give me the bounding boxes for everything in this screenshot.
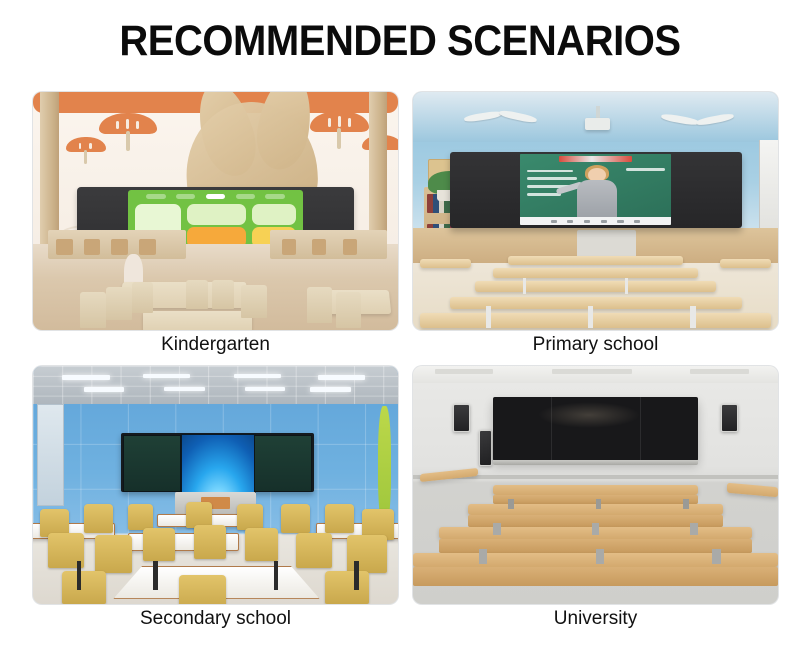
chair: [325, 504, 354, 533]
interactive-flat-panel[interactable]: [493, 397, 697, 461]
toolbar-icon[interactable]: [584, 220, 590, 223]
toolbar-icon[interactable]: [634, 220, 640, 223]
desk-row: [508, 256, 683, 264]
ceiling: [413, 366, 778, 383]
child-chair: [307, 287, 333, 323]
scenario-caption-kindergarten: Kindergarten: [33, 332, 398, 358]
basket: [84, 239, 101, 256]
desk-front: [413, 567, 778, 586]
ceiling-light: [234, 374, 281, 379]
seat-frame: [592, 523, 599, 535]
basket: [139, 239, 156, 256]
mushroom-stem: [126, 131, 130, 152]
desk-leg: [625, 278, 629, 295]
chair-leg: [153, 561, 157, 590]
scenario-caption-primary-school: Primary school: [413, 332, 778, 358]
ceiling: [33, 366, 398, 404]
chair-leg: [354, 561, 358, 590]
ceiling-light: [245, 387, 285, 392]
projector: [585, 118, 611, 130]
ceiling-light: [318, 375, 365, 380]
ceiling-slot: [552, 369, 632, 374]
ceiling-light: [84, 387, 124, 392]
wood-column-left: [40, 92, 58, 249]
seat-frame: [493, 523, 500, 535]
chair: [84, 504, 113, 533]
scenario-card-primary-school[interactable]: Primary school: [413, 92, 778, 358]
basket: [343, 239, 357, 256]
app-card-media[interactable]: [252, 204, 296, 225]
front-board-assembly[interactable]: [121, 433, 314, 493]
basket: [312, 239, 326, 256]
desk-leg: [588, 306, 593, 327]
ceiling-slot: [690, 369, 748, 374]
chalk-formula: [527, 193, 560, 196]
wall-speaker-left: [453, 404, 470, 432]
desk-row: [450, 297, 742, 309]
ceiling-tile-grid: [33, 366, 398, 404]
side-desk-right: [720, 259, 771, 269]
page-title: RECOMMENDED SCENARIOS: [28, 18, 772, 65]
desk-row: [493, 268, 697, 278]
mushroom-decal-3: [310, 111, 368, 144]
child-chair: [186, 280, 208, 309]
seat-frame: [690, 523, 697, 535]
scenario-card-secondary-school[interactable]: Secondary school: [33, 366, 398, 632]
display-wallpaper: [181, 434, 257, 493]
chair: [347, 535, 387, 573]
ceiling-light: [62, 375, 109, 380]
ceiling-slot: [435, 369, 493, 374]
storage-cubby-right: [270, 230, 387, 259]
ceiling-fan-right: [661, 116, 734, 123]
primary-school-photo: [413, 92, 778, 330]
mushroom-gill: [126, 119, 129, 130]
chair: [281, 504, 310, 533]
mushroom-gill: [328, 118, 331, 127]
nav-tab[interactable]: [236, 194, 255, 199]
mushroom-decal-2: [66, 137, 106, 161]
toolbar-icon[interactable]: [601, 220, 607, 223]
ceiling-fan-left: [464, 113, 537, 120]
chalkboard-left: [123, 435, 181, 492]
chair: [186, 502, 212, 528]
app-top-nav[interactable]: [128, 190, 303, 202]
child-table: [143, 311, 253, 330]
app-card-note[interactable]: [187, 204, 246, 225]
scenario-card-university[interactable]: University: [413, 366, 778, 632]
desk-leg: [523, 278, 527, 295]
seat-gap: [508, 499, 514, 509]
basket: [111, 239, 128, 256]
secondary-school-photo: [33, 366, 398, 604]
side-desk-left: [420, 259, 471, 269]
mushroom-gill: [348, 118, 351, 127]
primary-school-scene: [413, 92, 778, 330]
chair: [194, 525, 227, 558]
university-scene: [413, 366, 778, 604]
desk-row: [493, 485, 697, 495]
ceiling-light: [164, 387, 204, 392]
chair-leg: [77, 561, 81, 590]
university-photo: [413, 366, 778, 604]
chalkboard-right: [254, 435, 312, 492]
nav-tab[interactable]: [176, 194, 195, 199]
seat-gap: [683, 499, 689, 509]
mushroom-gill: [136, 121, 139, 130]
child-chair: [241, 285, 267, 318]
scenario-caption-secondary-school: Secondary school: [33, 606, 398, 632]
toolbar-icon[interactable]: [617, 220, 623, 223]
green-wall-accent: [378, 406, 391, 525]
video-toolbar[interactable]: [520, 217, 672, 226]
child-chair: [212, 280, 234, 309]
nav-tab[interactable]: [146, 194, 165, 199]
ceiling-light: [310, 387, 350, 392]
window: [37, 404, 65, 506]
chair-front: [179, 575, 226, 604]
desk-leg: [486, 306, 491, 327]
chair: [237, 504, 263, 530]
panel-segment-divider: [640, 397, 641, 461]
interactive-flat-panel[interactable]: [450, 152, 742, 228]
kindergarten-photo: [33, 92, 398, 330]
toolbar-icon[interactable]: [551, 220, 557, 223]
scenario-grid: Kindergarten: [33, 92, 768, 632]
seat-frame: [712, 549, 721, 563]
recommended-scenarios-page: RECOMMENDED SCENARIOS: [0, 0, 800, 648]
panel-glare: [538, 402, 640, 428]
storage-cubby-left: [48, 230, 187, 259]
kindergarten-scene: [33, 92, 398, 330]
mushroom-gill: [79, 143, 81, 149]
mushroom-stem: [84, 150, 87, 165]
desk-row: [420, 313, 770, 327]
seat-gap: [596, 499, 602, 509]
chair-front: [325, 571, 369, 604]
desk-leg: [690, 306, 695, 327]
basket: [282, 239, 296, 256]
chair-leg: [274, 561, 278, 590]
ceiling-light: [143, 374, 190, 379]
video-title-bar: [559, 156, 632, 162]
child-chair: [106, 287, 132, 320]
seat-frame: [479, 549, 488, 563]
mushroom-stem: [337, 128, 341, 149]
panel-tray: [493, 460, 697, 465]
mushroom-gill: [116, 121, 119, 130]
teacher-body: [577, 180, 616, 219]
scenario-card-kindergarten[interactable]: Kindergarten: [33, 92, 398, 358]
mushroom-decal-1: [99, 113, 157, 146]
chair-front: [62, 571, 106, 604]
scenario-caption-university: University: [413, 606, 778, 632]
chair: [245, 528, 278, 561]
secondary-school-scene: [33, 366, 398, 604]
chair: [128, 504, 154, 530]
mushroom-gill: [338, 116, 341, 127]
nav-tab[interactable]: [265, 194, 284, 199]
chair: [95, 535, 132, 573]
wood-column-right: [369, 92, 387, 249]
chair: [143, 528, 176, 561]
basket: [56, 239, 73, 256]
chalk-formula: [527, 170, 573, 173]
child-chair: [336, 292, 362, 328]
seat-frame: [596, 549, 605, 563]
desk-row: [475, 281, 716, 292]
toolbar-icon[interactable]: [567, 220, 573, 223]
chalk-formula: [626, 168, 665, 171]
nav-tab-selected[interactable]: [206, 194, 225, 199]
child-chair: [132, 282, 154, 313]
panel-screen[interactable]: [520, 154, 672, 226]
child-chair: [80, 292, 106, 328]
wall-control-panel[interactable]: [479, 430, 492, 465]
chair: [296, 533, 333, 569]
interactive-display[interactable]: [181, 434, 257, 493]
wall-speaker-right: [721, 404, 738, 432]
chalk-formula: [527, 177, 577, 180]
mushroom-gill: [89, 143, 91, 149]
